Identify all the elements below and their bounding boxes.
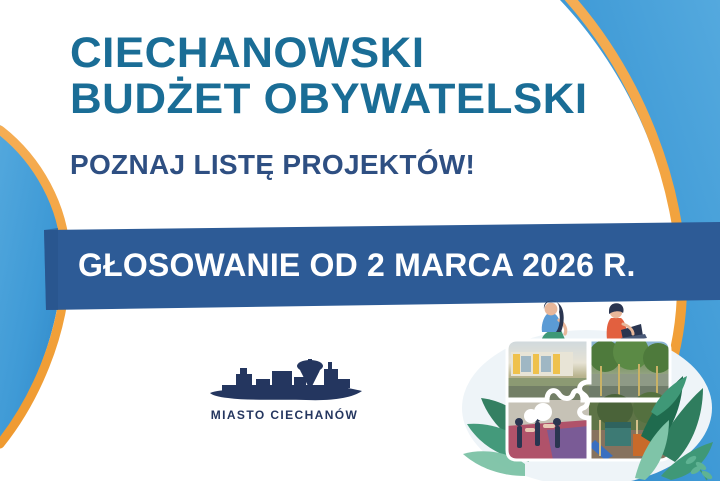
voting-banner-text: GŁOSOWANIE OD 2 MARCA 2026 R. (78, 248, 636, 282)
title-line-2: BUDŻET OBYWATELSKI (70, 76, 682, 122)
city-logo-text: MIASTO CIECHANÓW (202, 408, 367, 422)
headings-block: CIECHANOWSKI BUDŻET OBYWATELSKI POZNAJ L… (70, 30, 670, 180)
city-logo: MIASTO CIECHANÓW (202, 355, 367, 422)
street-with-trees-photo (589, 334, 673, 400)
photo-puzzle-block (507, 334, 673, 460)
poster-canvas: CIECHANOWSKI BUDŻET OBYWATELSKI POZNAJ L… (0, 0, 720, 481)
puzzle-photo-collage (455, 300, 720, 481)
city-skyline-icon (202, 355, 367, 407)
children-playing-photo (507, 400, 589, 460)
title-line-1: CIECHANOWSKI (70, 30, 682, 76)
collage-illustration (455, 300, 720, 481)
subtitle: POZNAJ LISTĘ PROJEKTÓW! (70, 150, 670, 180)
